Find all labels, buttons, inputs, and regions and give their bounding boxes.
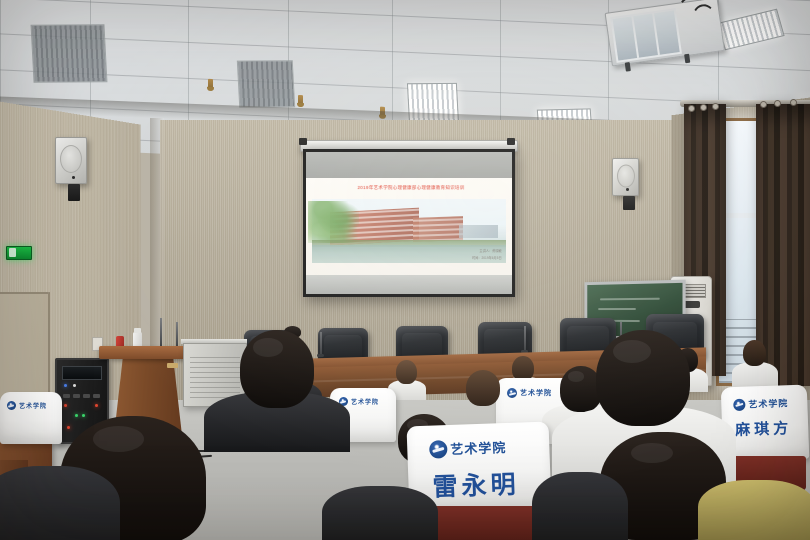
college-logo-icon <box>733 398 745 410</box>
audience-member <box>232 330 324 440</box>
ceiling-light-panel <box>31 24 108 83</box>
chair-cover-org: 艺术学院 <box>450 437 507 458</box>
projector-cage-glass <box>610 8 682 63</box>
sprinkler-head <box>298 95 303 105</box>
distant-building <box>459 225 498 238</box>
projected-slide: 2019年艺术学院心理健康部心理健康教育知识培训 主讲人：黄晓敏 时间：2019… <box>306 178 512 275</box>
chair-cover: 艺术学院 <box>0 392 62 444</box>
foreground-tree <box>308 201 358 243</box>
college-logo-icon <box>429 440 448 459</box>
slide-title: 2019年艺术学院心理健康部心理健康教育知识培训 <box>335 185 487 191</box>
projection-screen: 2019年艺术学院心理健康部心理健康教育知识培训 主讲人：黄晓敏 时间：2019… <box>303 149 515 297</box>
podium-microphone <box>160 318 162 348</box>
chair-cover-org: 艺术学院 <box>19 401 47 410</box>
projector-cable <box>689 3 719 40</box>
exit-sign-icon <box>6 246 32 260</box>
college-logo-icon <box>7 401 16 410</box>
chair-cover-name: 雷永明 <box>432 465 520 504</box>
rack-display <box>62 366 102 380</box>
chair-cover-org: 艺术学院 <box>520 388 552 398</box>
audience-member <box>0 440 96 540</box>
slide-date-line: 时间：2019年6月5日 <box>472 255 502 260</box>
slide-speaker-line: 主讲人：黄晓敏 <box>479 248 501 253</box>
screen-bottom-band <box>306 275 512 294</box>
table-microphone <box>524 326 526 352</box>
sprinkler-head <box>208 79 213 89</box>
college-logo-icon <box>507 388 517 398</box>
audience-member <box>540 454 614 540</box>
chair-cover-name: 麻琪方 <box>735 417 793 440</box>
audience-member <box>322 486 434 540</box>
lecture-hall-photo: 2019年艺术学院心理健康部心理健康教育知识培训 主讲人：黄晓敏 时间：2019… <box>0 0 810 540</box>
ceiling-light-panel <box>237 60 295 107</box>
chair-cover-org: 艺术学院 <box>351 397 379 406</box>
wall-speaker-left <box>55 137 87 184</box>
campus-building <box>413 216 463 242</box>
audience-member <box>738 340 770 380</box>
chair-cover-org: 艺术学院 <box>748 396 788 410</box>
audience-member <box>698 470 810 540</box>
lectern-nameplate <box>167 363 178 368</box>
screen-top-band <box>306 152 512 178</box>
podium-microphone <box>176 322 178 348</box>
audience-member <box>466 370 504 418</box>
wall-speaker-right <box>612 158 639 196</box>
audience-member <box>392 360 422 396</box>
